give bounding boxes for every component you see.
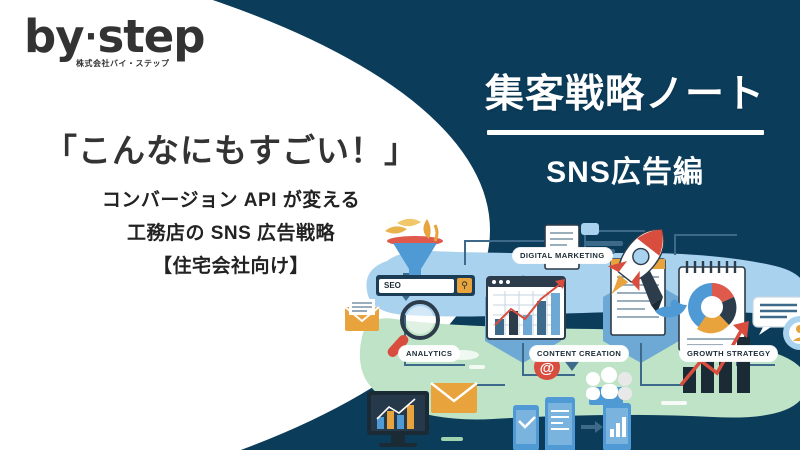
page-headline: 「こんなにもすごい！」 xyxy=(36,132,426,170)
label-content-creation: CONTENT CREATION xyxy=(530,346,628,361)
logo-subtitle: 株式会社バイ・ステップ xyxy=(76,58,170,69)
series-title: 集客戦略ノート xyxy=(470,74,780,117)
right-title-panel: 集客戦略ノート SNS広告編 xyxy=(470,74,780,191)
search-icon[interactable]: ⚲ xyxy=(457,278,472,293)
label-digital-marketing: DIGITAL MARKETING xyxy=(513,248,612,263)
logo-dot-separator: · xyxy=(84,17,98,57)
label-growth-strategy: GROWTH STRATEGY xyxy=(680,346,777,361)
poster-canvas: by·step 株式会社バイ・ステップ 「こんなにもすごい！」 コンバージョン … xyxy=(0,0,800,450)
seo-search-box[interactable]: SEO ⚲ xyxy=(376,275,475,296)
logo-text-by: by xyxy=(24,10,84,63)
subheadline-line-1: コンバージョン API が変える xyxy=(36,184,426,217)
logo-text-step: step xyxy=(97,10,204,63)
logo-wordmark: by·step xyxy=(24,14,254,59)
seo-search-input[interactable]: SEO xyxy=(379,279,454,293)
series-subtitle: SNS広告編 xyxy=(470,147,780,191)
marketing-illustration: @ xyxy=(345,215,800,450)
svg-text:@: @ xyxy=(540,360,555,377)
title-divider xyxy=(487,130,764,135)
brand-logo: by·step 株式会社バイ・ステップ xyxy=(24,14,254,59)
label-analytics: ANALYTICS xyxy=(399,346,459,361)
